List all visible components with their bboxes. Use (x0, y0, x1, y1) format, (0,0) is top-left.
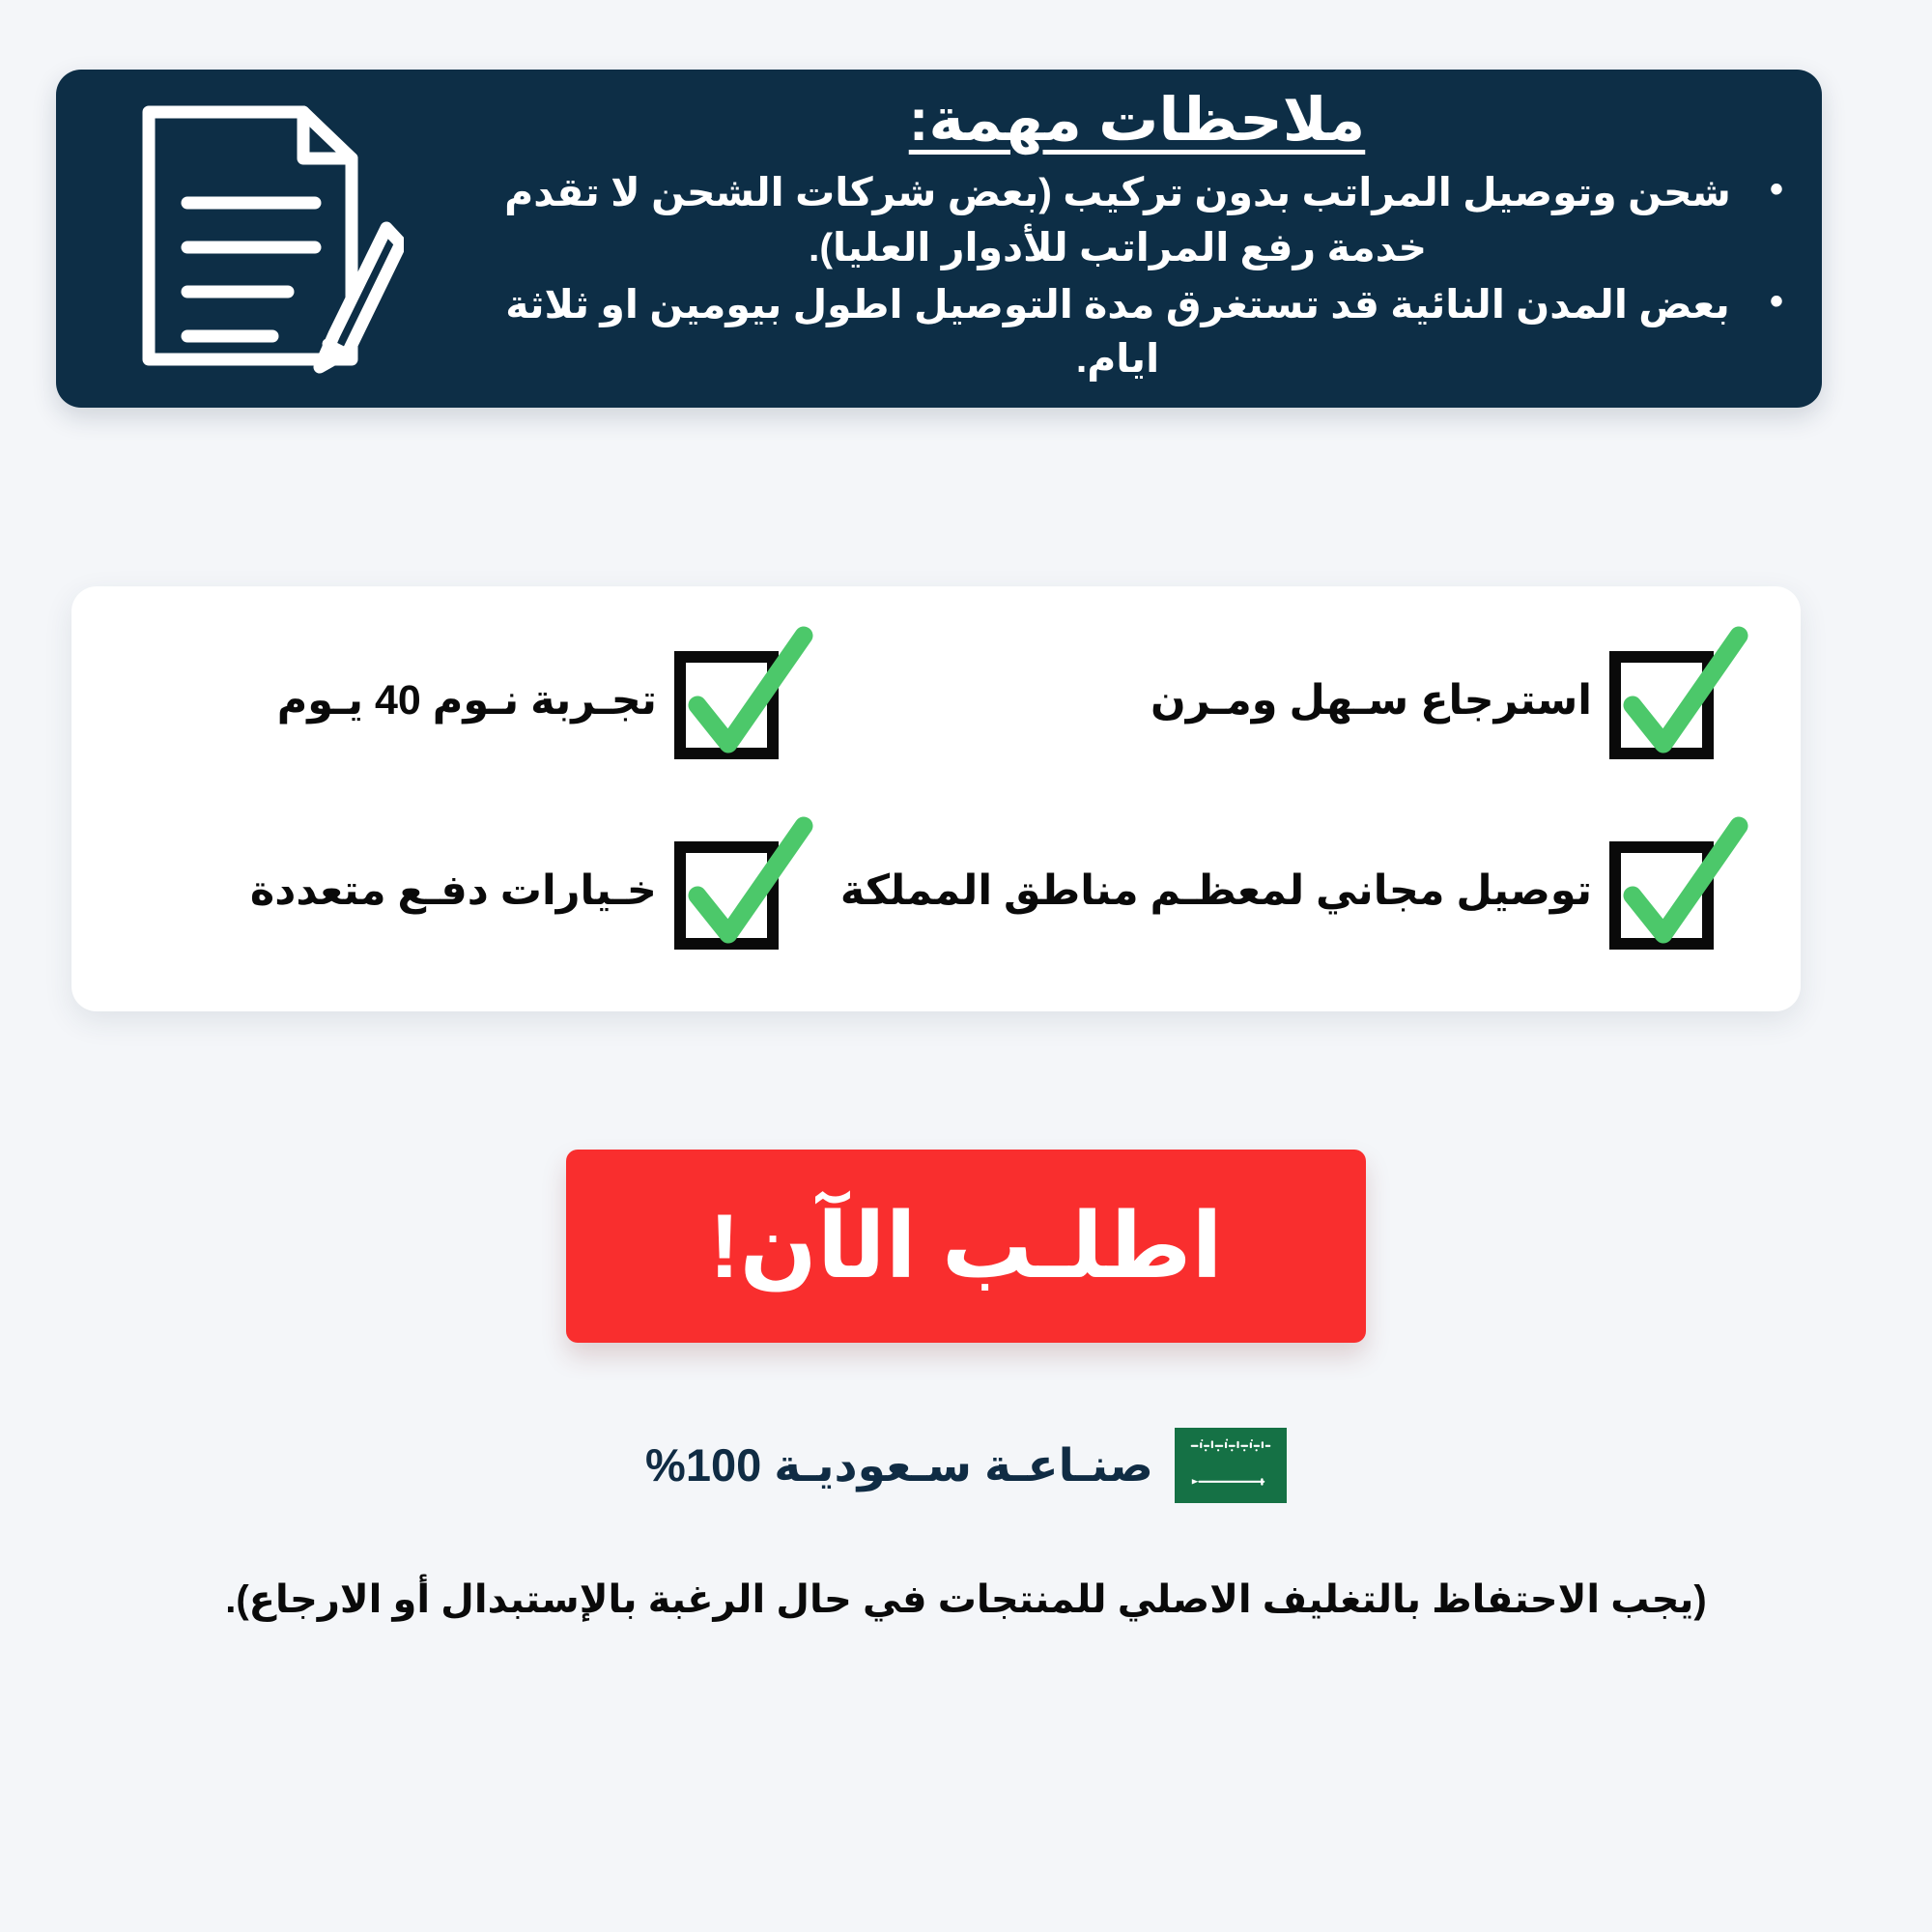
feature-label: خـيارات دفـع متعددة (250, 868, 657, 914)
checkbox-check-icon (1617, 845, 1710, 938)
feature-item-easy-return: استرجاع سـهل ومـرن (808, 655, 1743, 748)
notes-bullet-item: شحن وتوصيل المراتب بدون تركيب (بعض شركات… (491, 165, 1783, 274)
checkbox-check-icon (1617, 655, 1710, 748)
important-notes-card: ملاحظات مهمة: شحن وتوصيل المراتب بدون تر… (56, 70, 1822, 408)
checkbox-check-icon (682, 655, 775, 748)
notes-bullet-list: شحن وتوصيل المراتب بدون تركيب (بعض شركات… (491, 165, 1783, 385)
landing-page-section: ملاحظات مهمة: شحن وتوصيل المراتب بدون تر… (0, 0, 1932, 1932)
feature-item-payment-options: خـيارات دفـع متعددة (129, 845, 808, 938)
notes-icon-container (56, 91, 462, 386)
feature-item-sleep-trial: تجـربة نـوم 40 يـوم (129, 655, 808, 748)
saudi-flag-icon (1175, 1428, 1287, 1503)
cta-container: اطلـب الآن! (0, 1150, 1932, 1343)
notes-title: ملاحظات مهمة: (491, 89, 1783, 152)
order-now-button[interactable]: اطلـب الآن! (566, 1150, 1366, 1343)
feature-label: تجـربة نـوم 40 يـوم (277, 678, 657, 724)
feature-label: استرجاع سـهل ومـرن (1151, 678, 1592, 724)
feature-item-free-delivery: توصيل مجاني لمعظـم مناطق المملكة (808, 845, 1743, 938)
notes-text-container: ملاحظات مهمة: شحن وتوصيل المراتب بدون تر… (462, 89, 1822, 387)
notes-bullet-item: بعض المدن النائية قد تستغرق مدة التوصيل … (491, 277, 1783, 386)
feature-label: توصيل مجاني لمعظـم مناطق المملكة (840, 868, 1592, 914)
made-in-saudi-label: صنـاعـة سـعوديـة 100% (645, 1440, 1153, 1491)
made-in-saudi-row: صنـاعـة سـعوديـة 100% (0, 1428, 1932, 1503)
features-card: استرجاع سـهل ومـرن تجـربة نـوم 40 يـوم ت… (71, 586, 1801, 1011)
document-with-pencil-icon (114, 91, 404, 381)
checkbox-check-icon (682, 845, 775, 938)
packaging-footnote: (يجب الاحتفاظ بالتغليف الاصلي للمنتجات ف… (0, 1577, 1932, 1623)
